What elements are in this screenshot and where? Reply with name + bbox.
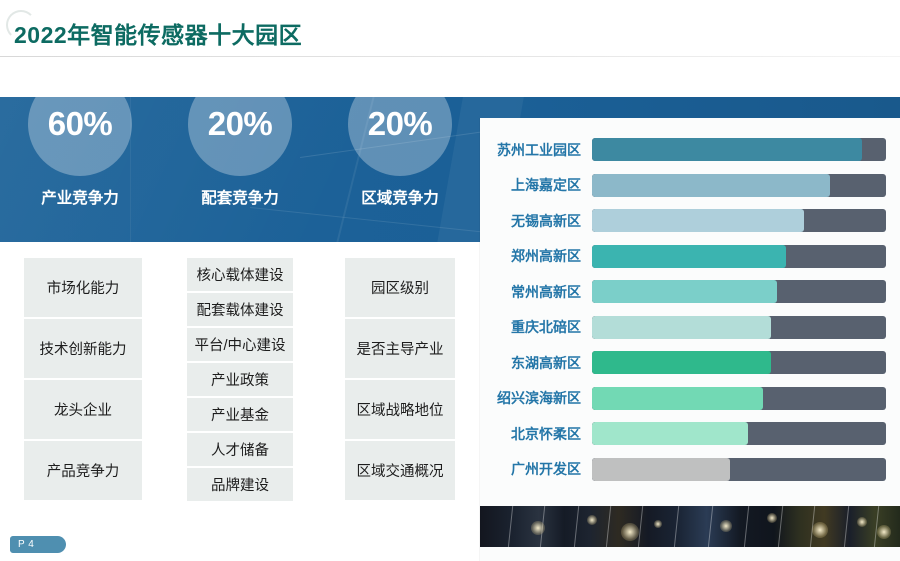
chart-row: 东湖高新区 — [480, 345, 900, 381]
photo-seam — [605, 506, 612, 547]
criteria-item: 产业基金 — [187, 398, 293, 433]
chart-row: 郑州高新区 — [480, 239, 900, 275]
chart-bar-track — [592, 209, 886, 232]
chart-bar-fill — [592, 458, 730, 481]
city-light-glow — [531, 521, 545, 535]
chart-row-label: 郑州高新区 — [480, 246, 592, 266]
chart-bar-track — [592, 387, 886, 410]
stat-caption: 区域竞争力 — [344, 186, 456, 208]
photo-seam — [673, 506, 680, 547]
criteria-item: 技术创新能力 — [24, 319, 142, 380]
chart-bar-fill — [592, 245, 786, 268]
stat-industry-competitiveness: 60% 产业竞争力 — [24, 72, 136, 208]
chart-row: 重庆北碚区 — [480, 310, 900, 346]
criteria-item: 产业政策 — [187, 363, 293, 398]
photo-seam — [637, 506, 644, 547]
stat-regional-competitiveness: 20% 区域竞争力 — [344, 72, 456, 208]
criteria-item: 市场化能力 — [24, 258, 142, 319]
stat-percent: 20% — [208, 105, 273, 143]
page-title: 2022年智能传感器十大园区 — [14, 16, 302, 50]
chart-row-label: 上海嘉定区 — [480, 175, 592, 195]
criteria-column-regional: 园区级别 是否主导产业 区域战略地位 区域交通概况 — [345, 258, 455, 502]
chart-row: 绍兴滨海新区 — [480, 381, 900, 417]
chart-row-label: 无锡高新区 — [480, 211, 592, 231]
chart-bar-fill — [592, 422, 748, 445]
stat-bubble: 20% — [188, 72, 292, 176]
chart-row-label: 重庆北碚区 — [480, 317, 592, 337]
chart-row-list: 苏州工业园区上海嘉定区无锡高新区郑州高新区常州高新区重庆北碚区东湖高新区绍兴滨海… — [480, 132, 900, 487]
criteria-item: 核心载体建设 — [187, 258, 293, 293]
chart-row: 上海嘉定区 — [480, 168, 900, 204]
page-number-badge: P 4 — [10, 536, 66, 553]
city-light-glow — [877, 525, 891, 539]
stat-bubble: 60% — [28, 72, 132, 176]
criteria-item: 园区级别 — [345, 258, 455, 319]
stat-caption: 配套竞争力 — [184, 186, 296, 208]
stat-percent: 60% — [48, 105, 113, 143]
chart-bar-fill — [592, 387, 763, 410]
criteria-item: 配套载体建设 — [187, 293, 293, 328]
photo-seam — [507, 506, 514, 547]
photo-seam — [843, 506, 850, 547]
photo-seam — [743, 506, 750, 547]
chart-row: 无锡高新区 — [480, 203, 900, 239]
chart-bar-fill — [592, 280, 777, 303]
photo-seam — [777, 506, 784, 547]
earth-at-night-photo-strip — [480, 506, 900, 547]
criteria-item: 产品竞争力 — [24, 441, 142, 502]
chart-bar-track — [592, 316, 886, 339]
criteria-column-support: 核心载体建设 配套载体建设 平台/中心建设 产业政策 产业基金 人才储备 品牌建… — [187, 258, 293, 503]
criteria-item: 平台/中心建设 — [187, 328, 293, 363]
city-light-glow — [720, 520, 732, 532]
city-light-glow — [767, 513, 777, 523]
chart-row-label: 东湖高新区 — [480, 353, 592, 373]
chart-row-label: 苏州工业园区 — [480, 140, 592, 160]
chart-bar-fill — [592, 316, 771, 339]
city-light-glow — [857, 517, 867, 527]
photo-seam — [573, 506, 580, 547]
chart-bar-track — [592, 458, 886, 481]
chart-bar-track — [592, 280, 886, 303]
stat-support-competitiveness: 20% 配套竞争力 — [184, 72, 296, 208]
chart-row-label: 北京怀柔区 — [480, 424, 592, 444]
criteria-item: 区域战略地位 — [345, 380, 455, 441]
criteria-item: 品牌建设 — [187, 468, 293, 503]
stat-bubble: 20% — [348, 72, 452, 176]
chart-row: 北京怀柔区 — [480, 416, 900, 452]
chart-row-label: 广州开发区 — [480, 459, 592, 479]
photo-seam — [707, 506, 714, 547]
chart-bar-track — [592, 245, 886, 268]
chart-row: 广州开发区 — [480, 452, 900, 488]
criteria-item: 龙头企业 — [24, 380, 142, 441]
city-light-glow — [812, 522, 828, 538]
criteria-item: 区域交通概况 — [345, 441, 455, 502]
chart-bar-fill — [592, 351, 771, 374]
chart-bar-track — [592, 174, 886, 197]
title-divider — [0, 56, 900, 57]
chart-row-label: 绍兴滨海新区 — [480, 388, 592, 408]
stat-caption: 产业竞争力 — [24, 186, 136, 208]
criteria-item: 人才储备 — [187, 433, 293, 468]
criteria-item: 是否主导产业 — [345, 319, 455, 380]
chart-bar-track — [592, 351, 886, 374]
city-light-glow — [621, 523, 639, 541]
chart-bar-track — [592, 422, 886, 445]
chart-bar-fill — [592, 174, 830, 197]
chart-bar-fill — [592, 138, 862, 161]
chart-row: 苏州工业园区 — [480, 132, 900, 168]
city-light-glow — [654, 520, 662, 528]
city-light-glow — [587, 515, 597, 525]
chart-row: 常州高新区 — [480, 274, 900, 310]
criteria-column-industry: 市场化能力 技术创新能力 龙头企业 产品竞争力 — [24, 258, 142, 502]
stat-percent: 20% — [368, 105, 433, 143]
top-parks-chart-panel: 苏州工业园区上海嘉定区无锡高新区郑州高新区常州高新区重庆北碚区东湖高新区绍兴滨海… — [480, 118, 900, 561]
chart-bar-track — [592, 138, 886, 161]
chart-row-label: 常州高新区 — [480, 282, 592, 302]
chart-bar-fill — [592, 209, 804, 232]
